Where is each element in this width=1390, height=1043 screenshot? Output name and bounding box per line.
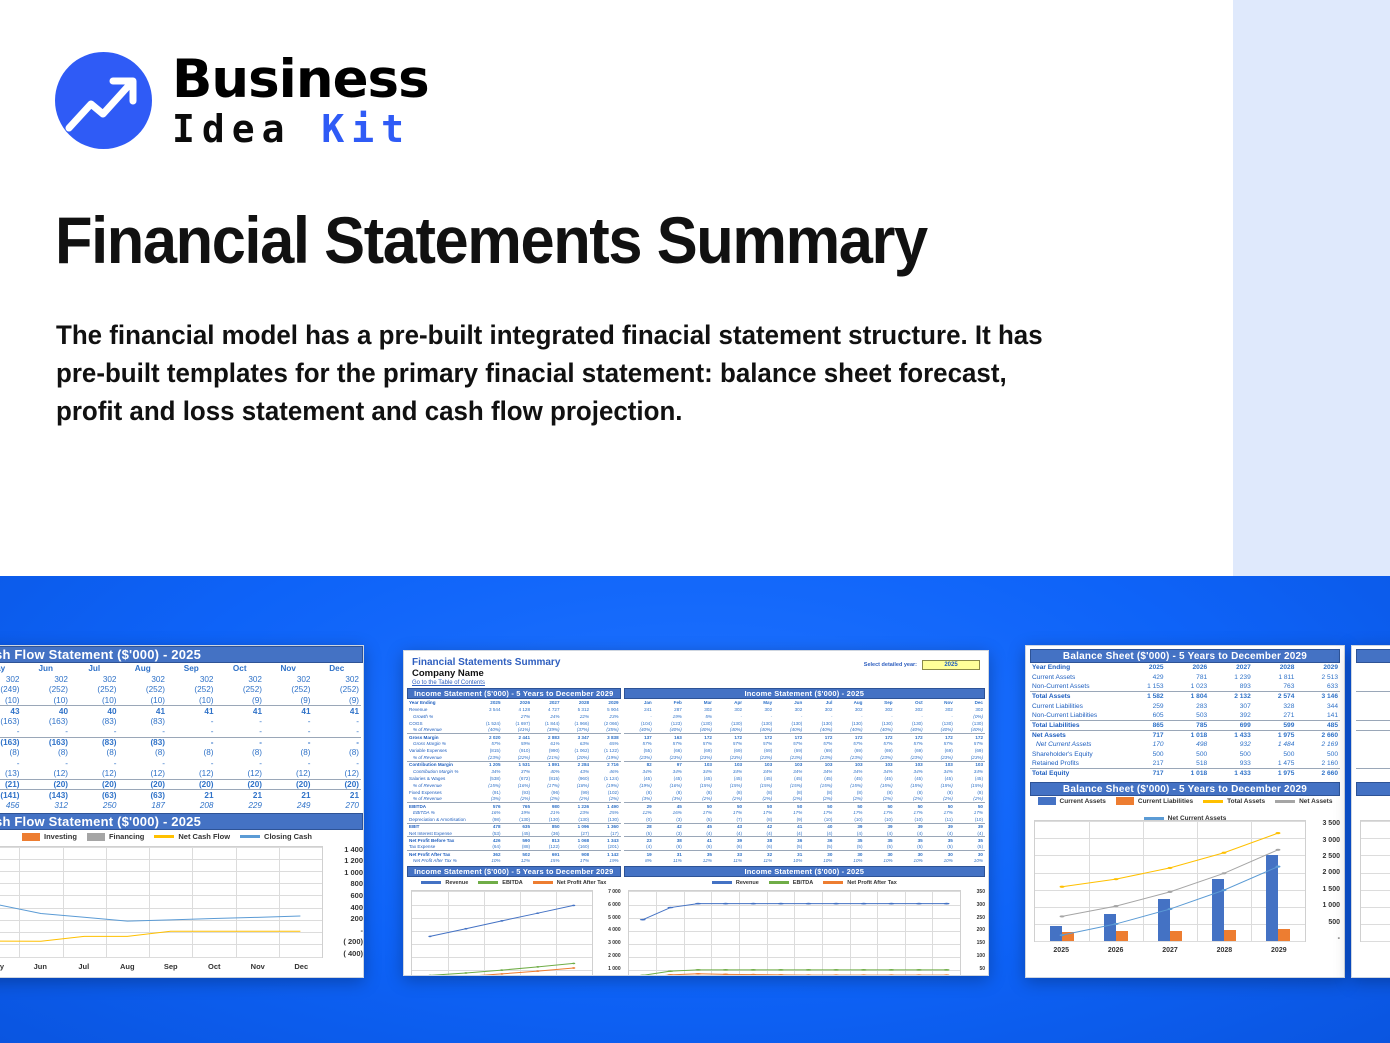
table-cell: 16% — [654, 809, 684, 816]
y-axis-tick: 1 400 — [325, 846, 363, 854]
table-cell: (11) — [925, 816, 955, 823]
table-cell: 31 — [774, 851, 804, 858]
table-row: -19%5%--------(0%) — [624, 713, 985, 720]
column-header: Aug — [119, 663, 168, 674]
table-cell: (8) — [654, 789, 684, 796]
table-row: 4340404141414141 — [0, 706, 361, 717]
balance-sheet-chart-legend: Current AssetsCurrent LiabilitiesTotal A… — [1030, 796, 1340, 818]
table-cell: 172 — [714, 733, 744, 740]
table-row: Variable Expenses(815)(910)(990)(1 062)(… — [407, 747, 621, 754]
table-cell: (4) — [865, 830, 895, 837]
table-cell: (12) — [22, 769, 71, 780]
table-cell: (4) — [744, 830, 774, 837]
table-cell: 12 — [1356, 759, 1390, 769]
table-cell: 217 — [1122, 759, 1166, 769]
table-cell: 41 — [684, 837, 714, 844]
table-cell: 270 — [313, 800, 362, 811]
table-cell: (2%) — [895, 795, 925, 802]
row-label: Gross Margin % — [407, 740, 473, 747]
table-cell: 33 — [714, 851, 744, 858]
legend-label: Net Profit After Tax — [557, 880, 607, 886]
x-axis-tick: Nov — [236, 962, 280, 971]
table-cell: (69) — [834, 747, 864, 754]
row-label: EBIT — [407, 823, 473, 830]
table-cell: (4) — [834, 830, 864, 837]
table-cell: (63) — [119, 790, 168, 801]
table-cell: - — [216, 727, 265, 738]
table-cell: (2%) — [684, 795, 714, 802]
table-cell: - — [264, 727, 313, 738]
table-cell: 170 — [1122, 740, 1166, 750]
table-cell: 1 153 — [1122, 682, 1166, 692]
column-header: Oct — [216, 663, 265, 674]
table-cell: (40%) — [804, 727, 834, 734]
y-axis-tick: 1 000 — [1308, 902, 1340, 909]
table-row: 34%34%34%34%34%34%34%34%34%34%34%34% — [624, 768, 985, 775]
table-cell: 25% — [591, 809, 621, 816]
table-row: (23%)(23%)(23%)(23%)(23%)(23%)(23%)(23%)… — [624, 754, 985, 761]
legend-item: Revenue — [421, 880, 468, 886]
table-cell: (130) — [503, 816, 533, 823]
income-statement-screenshot[interactable]: Financial Statements Summary Company Nam… — [403, 650, 989, 976]
legend-item: Investing — [22, 832, 77, 841]
table-cell: (69) — [895, 747, 925, 754]
table-cell: (20) — [264, 779, 313, 790]
table-cell: 429 — [1122, 673, 1166, 683]
legend-item: Financing — [87, 832, 144, 841]
table-cell: 35 — [865, 837, 895, 844]
cash-flow-chart-legend: InvestingFinancingNet Cash FlowClosing C… — [0, 830, 363, 844]
monthly-is-title: Income Statement ($'000) - 2025 — [624, 688, 985, 699]
table-cell: (40%) — [774, 727, 804, 734]
table-row: -------- — [0, 758, 361, 769]
table-cell: (2%) — [532, 795, 562, 802]
table-cell: 42 — [654, 823, 684, 830]
table-cell: 34% — [654, 768, 684, 775]
table-of-contents-link[interactable]: Go to the Table of Contents — [412, 680, 980, 686]
balance-sheet-screenshot[interactable]: Balance Sheet ($'000) - 5 Years to Decem… — [1025, 645, 1345, 978]
table-cell: 17% — [804, 809, 834, 816]
table-row: 284245434241403939393939 — [624, 823, 985, 830]
table-cell: (0) — [624, 816, 654, 823]
table-cell: (672) — [503, 775, 533, 782]
table-cell: 302 — [955, 706, 985, 713]
table-cell: (45) — [774, 775, 804, 782]
table-cell: - — [119, 727, 168, 738]
table-cell: 50 — [714, 802, 744, 809]
table-cell: (15%) — [865, 782, 895, 789]
table-cell: 1 297 — [1356, 692, 1390, 702]
table-cell: 65% — [591, 740, 621, 747]
table-cell: 12% — [624, 809, 654, 816]
table-cell: 30 — [955, 851, 985, 858]
table-cell: (39%) — [532, 727, 562, 734]
table-cell: 141 — [1296, 711, 1340, 721]
table-cell: (4) — [774, 830, 804, 837]
table-cell: (40%) — [684, 727, 714, 734]
table-row: Tax Expense(64)(88)(122)(160)(201) — [407, 844, 621, 851]
table-cell: 43 — [0, 706, 22, 717]
table-cell: 34% — [955, 768, 985, 775]
table-cell: 103 — [804, 761, 834, 768]
annual-is-chart: 7 0006 0005 0004 0003 0002 0001 000-2025… — [407, 888, 621, 976]
table-cell: 5 904 — [591, 706, 621, 713]
table-cell: - — [216, 758, 265, 769]
table-row: Net Interest Expense(53)(45)(36)(27)(17) — [407, 830, 621, 837]
table-cell: 2029 — [591, 699, 621, 706]
select-year-input[interactable]: 2025 — [922, 660, 980, 670]
table-cell: 717 — [1122, 769, 1166, 779]
table-cell: (10) — [955, 816, 985, 823]
table-cell: (130) — [865, 720, 895, 727]
table-cell: 17% — [684, 809, 714, 816]
table-cell: 302 — [0, 674, 22, 685]
row-label: Net Assets — [1030, 730, 1122, 740]
y-axis-tick: ( 200) — [325, 938, 363, 946]
table-cell: - — [216, 737, 265, 748]
table-cell: (23%) — [774, 754, 804, 761]
y-axis-tick: 50 — [963, 967, 985, 972]
legend-label: Net Assets — [1299, 798, 1332, 805]
table-cell: 2 132 — [1209, 692, 1253, 702]
table-cell: 39 — [865, 823, 895, 830]
table-cell: 763 — [1253, 682, 1297, 692]
legend-label: EBITDA — [502, 880, 522, 886]
table-cell: 302 — [216, 674, 265, 685]
table-cell: (83) — [119, 716, 168, 727]
table-row: (45)(45)(45)(45)(45)(45)(45)(45)(45)(45)… — [624, 775, 985, 782]
table-cell: (12) — [264, 769, 313, 780]
table-cell: (45) — [925, 775, 955, 782]
table-cell: 1 096 — [562, 823, 592, 830]
table-cell: 57% — [804, 740, 834, 747]
x-axis-tick: Dec — [280, 962, 324, 971]
row-label: Variable Expenses — [407, 747, 473, 754]
row-label: Revenue — [407, 706, 473, 713]
brand-name-secondary: Idea — [172, 107, 292, 151]
y-axis-tick: 1 200 — [325, 857, 363, 865]
table-cell: 2025 — [1122, 663, 1166, 673]
table-row: Non-Current Liabilities605503392271141 — [1030, 711, 1340, 721]
table-cell: - — [119, 758, 168, 769]
table-cell: (2%) — [774, 795, 804, 802]
table-cell: 57% — [955, 740, 985, 747]
table-row: (55)(66)(69)(69)(69)(69)(69)(69)(69)(69)… — [624, 747, 985, 754]
table-cell: 344 — [1296, 701, 1340, 711]
balance-sheet-chart: 3 5003 0002 5002 0001 5001 000500-202520… — [1030, 818, 1340, 958]
table-cell: 34% — [714, 768, 744, 775]
table-cell: (1 966) — [562, 720, 592, 727]
table-cell: (8) — [167, 748, 216, 759]
table-cell: (40%) — [654, 727, 684, 734]
table-cell: 302 — [70, 674, 119, 685]
table-cell: - — [313, 737, 362, 748]
table-cell: (2%) — [804, 795, 834, 802]
table-cell: 163 — [654, 733, 684, 740]
table-cell: 502 — [503, 851, 533, 858]
table-cell: (15%) — [774, 782, 804, 789]
table-row: Net Profit After Tax %10%12%15%17%19% — [407, 857, 621, 864]
table-cell: - — [714, 713, 744, 720]
table-cell: - — [264, 716, 313, 727]
table-cell: 17% — [834, 809, 864, 816]
table-cell: (23%) — [955, 754, 985, 761]
balance-sheet-monthly-screenshot[interactable]: Jan1 1741241 297936927865121 08150012512… — [1351, 645, 1390, 978]
table-cell: 781 — [1166, 673, 1210, 683]
table-cell: (7) — [714, 816, 744, 823]
table-cell: (15%) — [955, 782, 985, 789]
table-cell: 3 838 — [591, 733, 621, 740]
table-cell: (6) — [684, 844, 714, 851]
table-cell: Sep — [865, 699, 895, 706]
table-row: % of Revenue(40%)(41%)(39%)(37%)(35%) — [407, 727, 621, 734]
table-cell: 2026 — [1166, 663, 1210, 673]
table-row: 500 — [1356, 749, 1390, 759]
table-cell: 12% — [684, 857, 714, 864]
table-row: (104)(123)(130)(130)(130)(130)(130)(130)… — [624, 720, 985, 727]
table-cell: 57% — [925, 740, 955, 747]
table-row: -------- — [0, 727, 361, 738]
table-cell: 1 023 — [1166, 682, 1210, 692]
table-cell: (3) — [654, 830, 684, 837]
row-label: % of Revenue — [407, 782, 473, 789]
table-cell: 172 — [804, 733, 834, 740]
table-cell: (201) — [591, 844, 621, 851]
table-cell: (45) — [654, 775, 684, 782]
table-cell: (6) — [714, 844, 744, 851]
row-label: Shareholder's Equity — [1030, 749, 1122, 759]
table-cell: 36 — [774, 837, 804, 844]
table-cell: 27% — [503, 713, 533, 720]
table-cell: (141) — [0, 790, 22, 801]
y-axis-tick: 1 000 — [595, 967, 621, 972]
table-cell: 302 — [684, 706, 714, 713]
table-cell: 39 — [925, 823, 955, 830]
table-cell: May — [744, 699, 774, 706]
table-row: JanFebMarAprMayJunJulAugSepOctNovDec — [624, 699, 985, 706]
row-label: EBITDA — [407, 802, 473, 809]
table-cell: (4) — [684, 830, 714, 837]
table-cell: (5) — [774, 844, 804, 851]
table-cell: 57% — [895, 740, 925, 747]
table-cell: 21 — [167, 790, 216, 801]
table-row: 8297103103103103103103103103103103 — [624, 761, 985, 768]
row-label: Tax Expense — [407, 844, 473, 851]
table-cell: 302 — [167, 674, 216, 685]
table-cell: 302 — [744, 706, 774, 713]
table-cell: (5) — [865, 844, 895, 851]
table-cell: (990) — [532, 747, 562, 754]
table-cell: (130) — [834, 720, 864, 727]
table-cell: 17% — [774, 809, 804, 816]
y-axis-tick: 500 — [1308, 919, 1340, 926]
table-cell: (252) — [264, 685, 313, 696]
monthly-is-chart: 35030025020015010050-JanFebMarAprMayJunJ… — [624, 888, 985, 976]
table-cell: 307 — [1209, 701, 1253, 711]
table-cell: 3 146 — [1296, 692, 1340, 702]
table-cell: 50 — [744, 802, 774, 809]
table-cell: - — [804, 713, 834, 720]
x-axis-tick: Oct — [193, 962, 237, 971]
table-cell: 1 239 — [1209, 673, 1253, 683]
table-cell: 23% — [562, 809, 592, 816]
table-cell: 57% — [834, 740, 864, 747]
x-axis-tick: Jul — [62, 962, 106, 971]
table-cell: 3 544 — [473, 706, 503, 713]
table-cell: 40 — [70, 706, 119, 717]
table-cell: (20) — [70, 779, 119, 790]
table-cell: (10) — [119, 695, 168, 706]
table-cell: (130) — [774, 720, 804, 727]
table-cell: (960) — [562, 775, 592, 782]
table-cell: 23 — [624, 837, 654, 844]
table-cell: 1 018 — [1166, 730, 1210, 740]
table-cell: 34% — [473, 768, 503, 775]
table-row: Gross Margin2 0202 4412 8833 3473 838 — [407, 733, 621, 740]
table-cell: 16% — [473, 809, 503, 816]
annual-is-chart-legend: RevenueEBITDANet Profit After Tax — [407, 877, 621, 888]
table-cell: 35 — [955, 837, 985, 844]
table-cell: 500 — [1209, 749, 1253, 759]
table-cell: - — [70, 727, 119, 738]
table-row: Net Current Assets1704989321 4842 169 — [1030, 740, 1340, 750]
table-row: Fixed Expenses(91)(93)(96)(99)(102) — [407, 789, 621, 796]
table-cell: 813 — [532, 837, 562, 844]
table-cell: - — [70, 758, 119, 769]
table-row: 1 081 — [1356, 740, 1390, 750]
table-cell: 2 513 — [1296, 673, 1340, 683]
table-cell: 17% — [895, 809, 925, 816]
table-cell: (123) — [654, 720, 684, 727]
table-cell: 50 — [865, 802, 895, 809]
table-cell: 765 — [503, 802, 533, 809]
table-cell: 302 — [22, 674, 71, 685]
table-cell: 50 — [895, 802, 925, 809]
row-label: % of Revenue — [407, 795, 473, 802]
table-cell: 103 — [895, 761, 925, 768]
table-cell: (5) — [955, 844, 985, 851]
row-label: Current Assets — [1030, 673, 1122, 683]
table-cell: 2 716 — [591, 761, 621, 768]
table-cell: 34% — [684, 768, 714, 775]
table-cell: (8) — [0, 748, 22, 759]
table-cell: 39 — [834, 823, 864, 830]
table-cell: Feb — [654, 699, 684, 706]
table-row: % of Revenue(3%)(2%)(2%)(2%)(2%) — [407, 795, 621, 802]
table-cell: 45 — [654, 802, 684, 809]
table-cell: 2028 — [562, 699, 592, 706]
table-row: (141)(143)(63)(63)21212121 — [0, 790, 361, 801]
table-cell: - — [313, 727, 362, 738]
table-row: (163)(163)(83)(83)---- — [0, 737, 361, 748]
legend-swatch — [1038, 797, 1056, 805]
table-cell: (6) — [654, 844, 684, 851]
far-chart: Jan — [1356, 818, 1390, 958]
table-cell: (130) — [684, 720, 714, 727]
table-cell: 50 — [804, 802, 834, 809]
cash-flow-screenshot[interactable]: Cash Flow Statement ($'000) - 2025 MayJu… — [0, 645, 364, 978]
table-cell: (88) — [503, 844, 533, 851]
table-cell: 30 — [925, 851, 955, 858]
table-cell: 2028 — [1253, 663, 1297, 673]
table-cell: - — [925, 713, 955, 720]
row-label: % of Revenue — [407, 754, 473, 761]
table-cell: (4) — [925, 830, 955, 837]
table-row: (10)(10)(10)(10)(10)(9)(9)(9) — [0, 695, 361, 706]
table-cell: 22% — [562, 713, 592, 720]
table-row: 124 — [1356, 682, 1390, 692]
table-cell: 17% — [925, 809, 955, 816]
table-cell: 1 531 — [503, 761, 533, 768]
table-cell: (21%) — [532, 754, 562, 761]
table-cell: 41 — [216, 706, 265, 717]
y-axis-tick: 150 — [963, 941, 985, 946]
chart-plot-area — [411, 890, 593, 976]
table-cell: (0%) — [955, 713, 985, 720]
table-row: (8)(8)(8)(8)(8)(8)(8)(8)(8)(8)(8)(8) — [624, 789, 985, 796]
table-cell: (163) — [0, 737, 22, 748]
table-cell: (3%) — [654, 795, 684, 802]
legend-swatch — [154, 835, 174, 838]
table-cell: 10% — [925, 857, 955, 864]
table-cell: (69) — [774, 747, 804, 754]
table-row: % of Revenue(23%)(22%)(21%)(20%)(19%) — [407, 754, 621, 761]
table-cell: 456 — [0, 800, 22, 811]
table-cell: 21 — [313, 790, 362, 801]
y-axis-tick: 5 000 — [595, 916, 621, 921]
table-cell: 10% — [865, 857, 895, 864]
table-cell — [473, 713, 503, 720]
table-cell: 40 — [804, 823, 834, 830]
table-cell: 1 975 — [1253, 769, 1297, 779]
table-cell: 908 — [562, 851, 592, 858]
table-cell: 137 — [624, 733, 654, 740]
table-cell: (130) — [895, 720, 925, 727]
table-cell: 57% — [473, 740, 503, 747]
table-cell: 17% — [562, 857, 592, 864]
legend-label: Financing — [109, 832, 144, 841]
table-cell: (130) — [955, 720, 985, 727]
chart-plot-area — [0, 846, 323, 958]
table-cell: (23%) — [834, 754, 864, 761]
table-cell: - — [0, 758, 22, 769]
table-row: % of Revenue(15%)(16%)(17%)(18%)(19%) — [407, 782, 621, 789]
table-cell: 42 — [744, 823, 774, 830]
table-cell: (37%) — [562, 727, 592, 734]
table-cell: (4) — [624, 844, 654, 851]
table-cell: 5 312 — [562, 706, 592, 713]
table-cell: (8) — [925, 789, 955, 796]
table-row: 57%57%57%57%57%57%57%57%57%57%57%57% — [624, 740, 985, 747]
row-label: COGS — [407, 720, 473, 727]
table-cell: 786 — [1356, 721, 1390, 731]
table-cell: (1 124) — [591, 775, 621, 782]
cash-flow-table-title: Cash Flow Statement ($'000) - 2025 — [0, 646, 363, 663]
chart-plot-area — [628, 890, 961, 976]
table-cell: (5) — [925, 844, 955, 851]
table-cell: (102) — [591, 789, 621, 796]
table-cell: 10% — [774, 857, 804, 864]
table-cell: (40%) — [744, 727, 774, 734]
table-cell: (2%) — [925, 795, 955, 802]
annual-income-statement-table: Year Ending20252026202720282029Revenue3 … — [407, 699, 621, 864]
table-cell: 2 660 — [1296, 730, 1340, 740]
table-cell: 3 347 — [562, 733, 592, 740]
table-cell: Oct — [895, 699, 925, 706]
far-balance-sheet-table: Jan1 1741241 297936927865121 08150012512 — [1356, 663, 1390, 778]
table-cell: (23%) — [865, 754, 895, 761]
table-cell: (40%) — [955, 727, 985, 734]
